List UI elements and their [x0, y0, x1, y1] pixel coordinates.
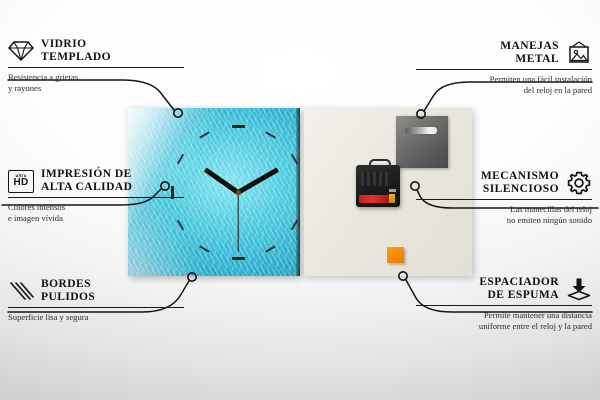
battery-terminal	[389, 194, 395, 203]
callout-desc-line1: Colores intensos	[8, 202, 184, 212]
product-infographic: VIDRIO TEMPLADO Resistencia a grietas y …	[0, 0, 600, 400]
clock-tick-0	[232, 125, 245, 128]
callout-title: BORDES PULIDOS	[41, 278, 95, 304]
foam-spacer	[387, 247, 404, 263]
callout-mecanismo-silencioso: MECANISMO SILENCIOSO Las manecillas del …	[416, 170, 592, 225]
gear-icon	[566, 170, 592, 196]
clock-center-cap	[236, 190, 241, 195]
callout-title: VIDRIO TEMPLADO	[41, 38, 111, 64]
picture-frame-hanger-icon	[566, 40, 592, 66]
hanger-slot	[405, 127, 437, 134]
callout-desc-line2: no emiten ningún sonido	[416, 215, 592, 225]
callout-desc-line2: uniforme entre el reloj y la pared	[416, 321, 592, 331]
callout-header: MANEJAS METAL	[416, 40, 592, 66]
callout-vidrio-templado: VIDRIO TEMPLADO Resistencia a grietas y …	[8, 38, 184, 93]
callout-rule	[416, 69, 592, 70]
callout-header: MECANISMO SILENCIOSO	[416, 170, 592, 196]
callout-rule	[8, 307, 184, 308]
callout-rule	[8, 197, 184, 198]
callout-title: ESPACIADOR DE ESPUMA	[479, 276, 559, 302]
callout-espaciador-espuma: ESPACIADOR DE ESPUMA Permite mantener un…	[416, 276, 592, 331]
callout-desc-line1: Las manecillas del reloj	[416, 204, 592, 214]
glass-edge	[296, 108, 300, 276]
callout-impresion-alta-calidad: ultra HD IMPRESIÓN DE ALTA CALIDAD Color…	[8, 168, 184, 223]
callout-desc-line1: Permite mantener una distancia	[416, 310, 592, 320]
callout-header: BORDES PULIDOS	[8, 278, 184, 304]
callout-desc-line2: y rayones	[8, 83, 184, 93]
callout-desc-line1: Permiten una fácil instalación	[416, 74, 592, 84]
callout-rule	[416, 199, 592, 200]
callout-rule	[416, 305, 592, 306]
callout-desc-line2: del reloj en la pared	[416, 85, 592, 95]
callout-title: MECANISMO SILENCIOSO	[481, 170, 559, 196]
quartz-movement	[356, 165, 400, 207]
callout-desc-line1: Resistencia a grietas	[8, 72, 184, 82]
callout-header: VIDRIO TEMPLADO	[8, 38, 184, 64]
clock-tick-6	[232, 257, 245, 260]
movement-handle	[369, 159, 391, 169]
callout-header: ultra HD IMPRESIÓN DE ALTA CALIDAD	[8, 168, 184, 194]
callout-title: MANEJAS METAL	[500, 40, 559, 66]
callout-bordes-pulidos: BORDES PULIDOS Superficie lisa y segura	[8, 278, 184, 323]
ultra-hd-icon: ultra HD	[8, 168, 34, 194]
callout-title: IMPRESIÓN DE ALTA CALIDAD	[41, 168, 132, 194]
callout-desc-line1: Superficie lisa y segura	[8, 312, 184, 322]
diamond-icon	[8, 38, 34, 64]
polished-edges-icon	[8, 278, 34, 304]
movement-label	[389, 189, 396, 192]
callout-manejas-metal: MANEJAS METAL Permiten una fácil instala…	[416, 40, 592, 95]
ultra-hd-big-label: HD	[13, 178, 28, 188]
callout-rule	[8, 67, 184, 68]
aa-battery	[359, 195, 389, 203]
down-arrow-pad-icon	[566, 276, 592, 302]
callout-desc-line2: e imagen vívida	[8, 213, 184, 223]
metal-hanger-plate	[396, 116, 448, 168]
movement-vent	[361, 172, 389, 186]
clock-second-hand	[237, 192, 238, 252]
callout-header: ESPACIADOR DE ESPUMA	[416, 276, 592, 302]
